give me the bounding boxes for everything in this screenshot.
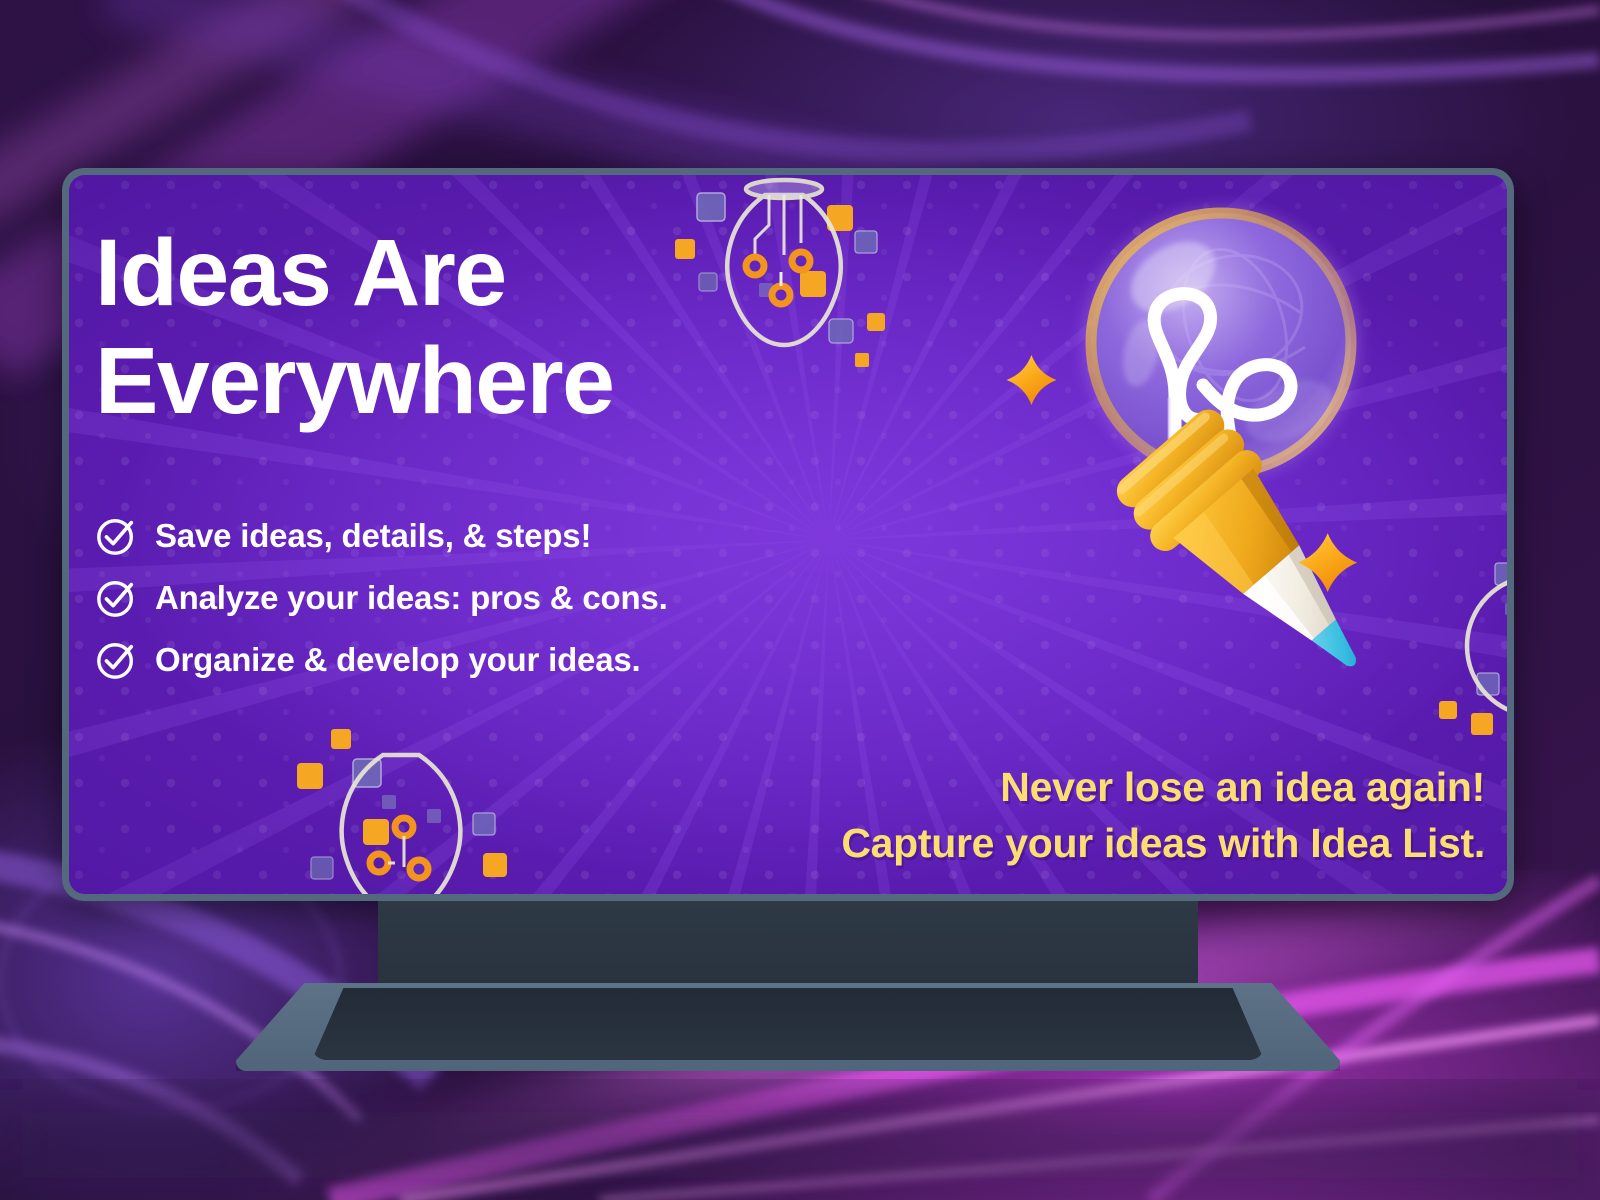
circuit-bulb-doodle-right <box>1409 541 1507 756</box>
feature-list: Save ideas, details, & steps! Analyze yo… <box>95 515 885 701</box>
laptop-lid: Ideas Are Everywhere Save ideas, details… <box>62 168 1514 901</box>
laptop-hinge-neck <box>378 901 1198 985</box>
circle-check-icon <box>95 639 137 681</box>
circle-check-icon <box>95 515 137 557</box>
list-item: Analyze your ideas: pros & cons. <box>95 577 885 619</box>
page-title: Ideas Are Everywhere <box>95 219 855 436</box>
headline-line-1: Ideas Are <box>95 220 506 326</box>
screen: Ideas Are Everywhere Save ideas, details… <box>69 175 1507 894</box>
list-item-label: Save ideas, details, & steps! <box>155 517 591 555</box>
circle-check-icon <box>95 577 137 619</box>
tagline-line-1: Never lose an idea again! <box>841 759 1485 816</box>
list-item-label: Organize & develop your ideas. <box>155 641 640 679</box>
laptop-keyboard-area <box>312 988 1264 1060</box>
sparkle-star-left <box>1007 355 1057 405</box>
tagline-line-2: Capture your ideas with Idea List. <box>841 815 1485 872</box>
list-item: Save ideas, details, & steps! <box>95 515 885 557</box>
circuit-bulb-doodle-bottom-left <box>287 717 517 894</box>
tagline: Never lose an idea again! Capture your i… <box>841 759 1485 872</box>
list-item-label: Analyze your ideas: pros & cons. <box>155 579 668 617</box>
lightbulb-pencil-illustration <box>989 185 1419 685</box>
laptop-device: Ideas Are Everywhere Save ideas, details… <box>0 0 1600 1200</box>
headline-line-2: Everywhere <box>95 327 855 435</box>
list-item: Organize & develop your ideas. <box>95 639 885 681</box>
